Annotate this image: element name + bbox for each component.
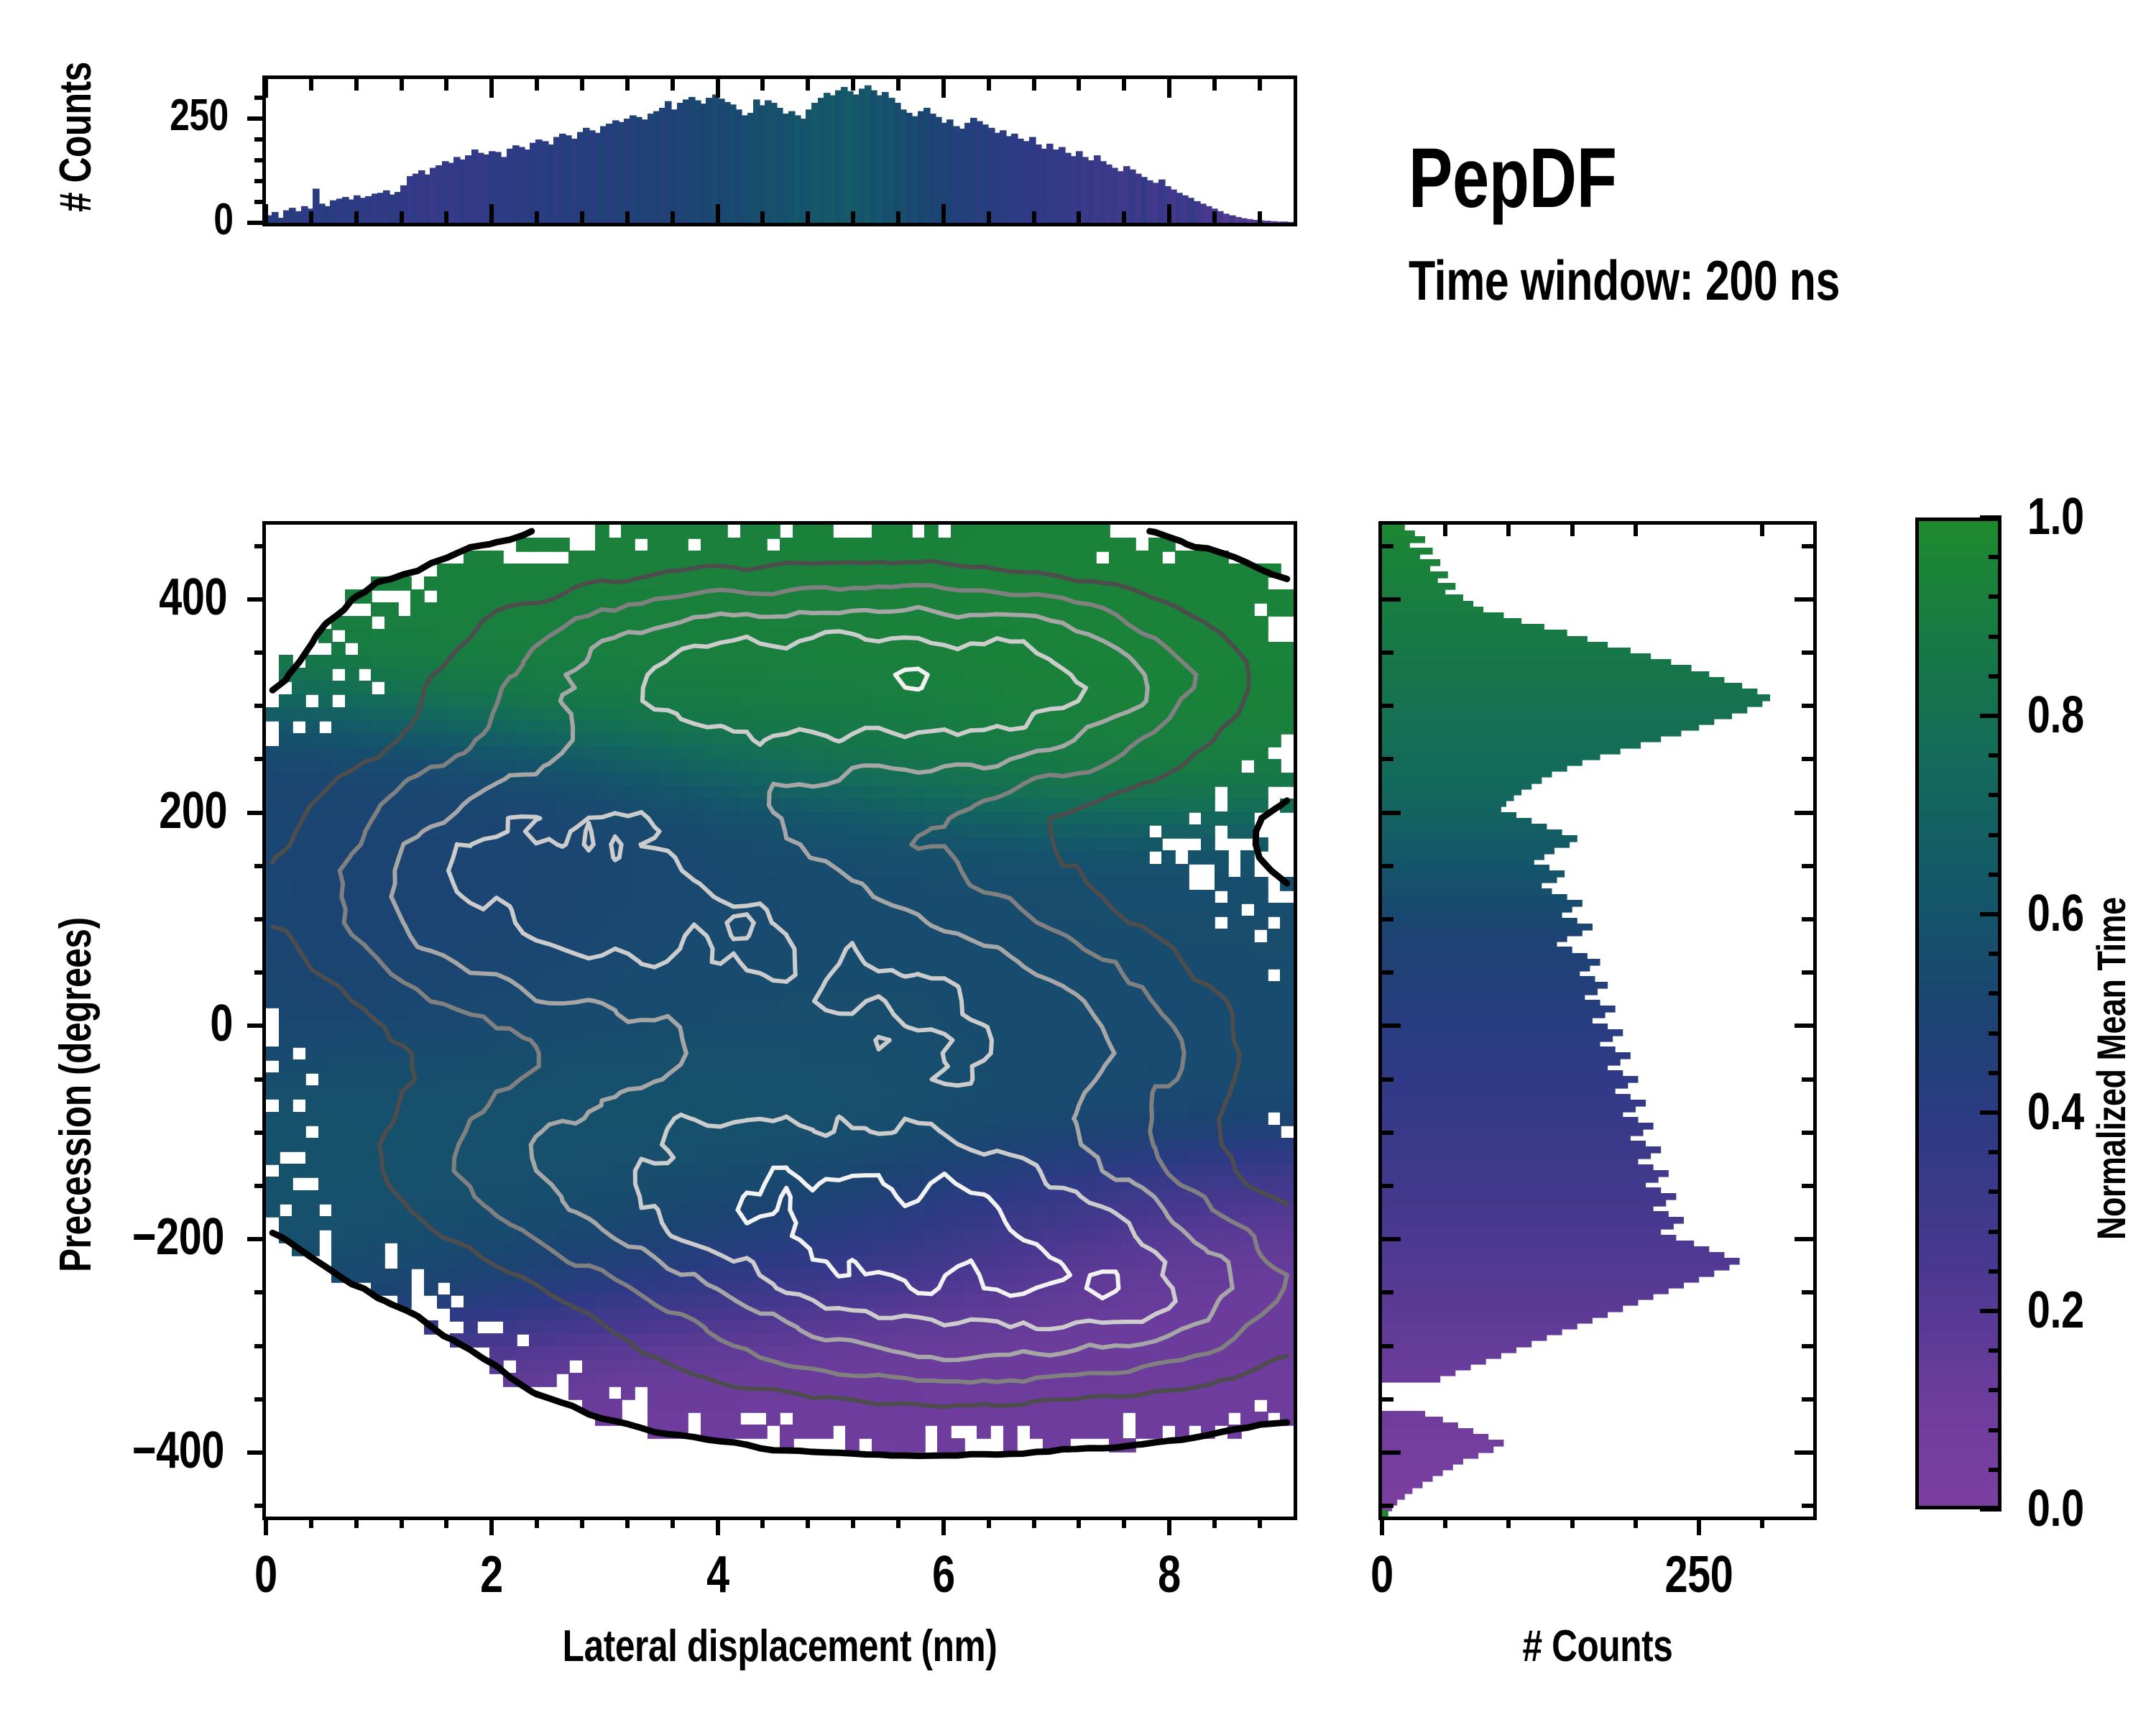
axis-tick <box>254 757 266 761</box>
axis-tick <box>309 1517 313 1528</box>
axis-tick <box>1802 864 1813 868</box>
axis-tick <box>1634 1517 1638 1528</box>
axis-tick <box>254 1397 266 1402</box>
axis-tick <box>1167 1517 1171 1535</box>
axis-tick <box>987 1517 991 1528</box>
axis-tick <box>760 211 765 223</box>
axis-tick <box>1989 1388 2001 1392</box>
axis-tick <box>1382 970 1393 975</box>
figure-root: 0250 # Counts 024684002000−200−400 Prece… <box>0 0 2156 1725</box>
axis-tick <box>1382 864 1393 868</box>
axis-tick <box>1382 1290 1393 1294</box>
axis-tick <box>1167 79 1171 98</box>
axis-tick <box>535 1517 539 1528</box>
axis-tick <box>941 79 946 98</box>
axis-tick <box>1989 594 2001 599</box>
axis-tick <box>851 79 855 91</box>
axis-tick <box>1443 1517 1447 1528</box>
axis-tick <box>851 1517 855 1528</box>
axis-tick <box>1795 811 1813 815</box>
axis-tick <box>1989 833 2001 837</box>
axis-tick <box>1032 1517 1036 1528</box>
axis-tick <box>254 1184 266 1188</box>
axis-tick <box>444 211 448 223</box>
axis-tick <box>254 1131 266 1135</box>
axis-tick <box>1122 79 1126 91</box>
axis-tick-label: 0.6 <box>2027 884 2084 943</box>
axis-tick-label: 0 <box>213 194 233 245</box>
main-heatmap-ylabel: Precession (degrees) <box>50 917 101 1272</box>
right-histogram-canvas <box>1382 525 1813 1517</box>
axis-tick <box>1980 515 2001 520</box>
axis-tick <box>254 864 266 868</box>
axis-tick <box>896 211 900 223</box>
axis-tick <box>535 211 539 223</box>
axis-tick <box>1989 1031 2001 1036</box>
axis-tick <box>264 204 268 223</box>
axis-tick <box>580 79 584 91</box>
axis-tick <box>987 79 991 91</box>
colorbar-label: Normalized Mean Time <box>2088 897 2134 1240</box>
axis-tick <box>254 650 266 655</box>
axis-tick-label: 8 <box>1158 1545 1181 1604</box>
axis-tick <box>1382 1077 1393 1082</box>
axis-tick <box>1506 525 1511 536</box>
axis-tick <box>806 1517 810 1528</box>
axis-tick <box>1802 1504 1813 1508</box>
axis-tick <box>400 79 404 91</box>
axis-tick <box>1760 525 1764 536</box>
axis-tick <box>1382 704 1393 708</box>
axis-tick <box>1212 79 1217 91</box>
axis-tick <box>1382 1344 1393 1348</box>
axis-tick <box>806 211 810 223</box>
axis-tick <box>1795 1023 1813 1028</box>
axis-tick <box>1380 1517 1384 1535</box>
axis-tick <box>1802 1397 1813 1402</box>
axis-tick <box>247 1023 266 1028</box>
axis-tick <box>760 1517 765 1528</box>
axis-tick-label: −400 <box>132 1421 224 1480</box>
colorbar <box>1915 517 2001 1509</box>
axis-tick <box>1032 79 1036 91</box>
axis-tick-label: 0 <box>1370 1545 1393 1604</box>
axis-tick <box>1989 1269 2001 1274</box>
axis-tick <box>535 79 539 91</box>
axis-tick <box>1122 211 1126 223</box>
axis-tick <box>1570 1517 1575 1528</box>
axis-tick <box>1382 1237 1401 1241</box>
axis-tick <box>1077 211 1081 223</box>
axis-tick <box>264 79 268 98</box>
axis-tick <box>1382 811 1401 815</box>
axis-tick <box>1802 757 1813 761</box>
axis-tick <box>625 1517 630 1528</box>
axis-tick <box>1570 525 1575 536</box>
axis-tick <box>247 811 266 815</box>
axis-tick-label: 250 <box>170 90 229 141</box>
axis-tick <box>760 79 765 91</box>
axis-tick <box>1989 1190 2001 1194</box>
axis-tick <box>247 1450 266 1455</box>
axis-tick <box>1989 873 2001 877</box>
axis-tick-label: 2 <box>480 1545 503 1604</box>
axis-tick <box>444 79 448 91</box>
axis-tick <box>1258 1517 1262 1528</box>
axis-tick <box>671 211 675 223</box>
axis-tick <box>1989 991 2001 995</box>
axis-tick <box>354 1517 359 1528</box>
axis-tick <box>254 917 266 921</box>
figure-subtitle: Time window: 200 ns <box>1409 248 1840 313</box>
axis-tick <box>1212 1517 1217 1528</box>
right-histogram-xlabel: # Counts <box>1523 1621 1673 1672</box>
axis-tick <box>1382 1504 1393 1508</box>
axis-tick <box>1989 1468 2001 1472</box>
axis-tick <box>896 1517 900 1528</box>
axis-tick-label: 200 <box>159 781 227 840</box>
axis-tick <box>716 1517 720 1535</box>
axis-tick <box>1506 1517 1511 1528</box>
axis-tick <box>1989 1150 2001 1154</box>
axis-tick <box>716 79 720 98</box>
axis-tick-label: 400 <box>159 568 227 627</box>
axis-tick-label: −200 <box>132 1207 224 1266</box>
axis-tick <box>1989 952 2001 956</box>
axis-tick <box>1989 635 2001 639</box>
main-heatmap-canvas <box>266 525 1294 1517</box>
axis-tick <box>625 211 630 223</box>
axis-tick-label: 0 <box>210 994 233 1053</box>
axis-tick <box>1802 650 1813 655</box>
axis-tick <box>625 79 630 91</box>
axis-tick <box>1802 1077 1813 1082</box>
axis-tick <box>1258 211 1262 223</box>
axis-tick <box>354 211 359 223</box>
axis-tick <box>247 116 266 121</box>
axis-tick <box>580 211 584 223</box>
axis-tick <box>1989 555 2001 559</box>
axis-tick <box>896 79 900 91</box>
axis-tick <box>254 1344 266 1348</box>
axis-tick <box>1989 1348 2001 1353</box>
axis-tick <box>941 204 946 223</box>
axis-tick <box>1382 1397 1393 1402</box>
axis-tick <box>1802 1344 1813 1348</box>
axis-tick <box>354 79 359 91</box>
axis-tick-label: 4 <box>706 1545 729 1604</box>
axis-tick <box>1802 1184 1813 1188</box>
axis-tick-label: 1.0 <box>2027 487 2084 546</box>
axis-tick <box>1382 1184 1393 1188</box>
axis-tick <box>247 1237 266 1241</box>
axis-tick <box>1382 757 1393 761</box>
axis-tick <box>1980 1507 2001 1512</box>
axis-tick <box>1980 1110 2001 1115</box>
top-histogram-canvas <box>266 79 1294 223</box>
axis-tick <box>1795 1237 1813 1241</box>
axis-tick <box>1258 79 1262 91</box>
axis-tick <box>254 970 266 975</box>
axis-tick <box>1802 917 1813 921</box>
axis-tick <box>671 79 675 91</box>
axis-tick <box>1382 544 1393 548</box>
axis-tick <box>1212 211 1217 223</box>
axis-tick <box>1795 597 1813 602</box>
axis-tick <box>1122 1517 1126 1528</box>
axis-tick <box>309 211 313 223</box>
axis-tick <box>489 79 494 98</box>
axis-tick <box>987 211 991 223</box>
axis-tick <box>1760 1517 1764 1528</box>
axis-tick-label: 0 <box>254 1545 277 1604</box>
axis-tick <box>1382 1023 1401 1028</box>
axis-tick <box>1980 714 2001 718</box>
figure-title: PepDF <box>1409 129 1617 227</box>
axis-tick <box>489 1517 494 1535</box>
axis-tick <box>1382 597 1401 602</box>
axis-tick <box>1989 753 2001 758</box>
axis-tick <box>400 211 404 223</box>
axis-tick <box>1980 1309 2001 1313</box>
axis-tick <box>1077 1517 1081 1528</box>
axis-tick <box>1989 793 2001 797</box>
main-heatmap-xlabel: Lateral displacement (nm) <box>563 1621 998 1672</box>
axis-tick <box>1167 204 1171 223</box>
axis-tick <box>1989 674 2001 678</box>
axis-tick <box>254 179 266 183</box>
axis-tick-label: 250 <box>1665 1545 1733 1604</box>
axis-tick-label: 0.8 <box>2027 686 2084 745</box>
axis-tick <box>1382 650 1393 655</box>
axis-tick <box>1697 1517 1701 1535</box>
axis-tick <box>806 79 810 91</box>
axis-tick <box>1032 211 1036 223</box>
axis-tick <box>1443 525 1447 536</box>
axis-tick <box>1802 970 1813 975</box>
axis-tick <box>254 704 266 708</box>
axis-tick <box>1634 525 1638 536</box>
axis-tick <box>1382 1450 1401 1455</box>
axis-tick-label: 0.4 <box>2027 1082 2084 1141</box>
axis-tick <box>254 137 266 142</box>
axis-tick <box>254 1290 266 1294</box>
axis-tick <box>1077 79 1081 91</box>
axis-tick <box>247 597 266 602</box>
axis-tick-label: 6 <box>932 1545 955 1604</box>
axis-tick <box>309 79 313 91</box>
axis-tick <box>1980 912 2001 916</box>
axis-tick <box>254 1504 266 1508</box>
axis-tick <box>264 1517 268 1535</box>
axis-tick <box>1802 704 1813 708</box>
axis-tick <box>254 544 266 548</box>
axis-tick-label: 0.0 <box>2027 1479 2084 1538</box>
axis-tick <box>1802 1131 1813 1135</box>
axis-tick <box>1989 1428 2001 1432</box>
axis-tick <box>1802 1290 1813 1294</box>
axis-tick <box>254 158 266 162</box>
axis-tick <box>254 1077 266 1082</box>
axis-tick-label: 0.2 <box>2027 1281 2084 1340</box>
axis-tick <box>1382 917 1393 921</box>
axis-tick <box>716 204 720 223</box>
axis-tick <box>1989 1230 2001 1234</box>
axis-tick <box>1382 1131 1393 1135</box>
axis-tick <box>1795 1450 1813 1455</box>
axis-tick <box>1989 1071 2001 1075</box>
axis-tick <box>489 204 494 223</box>
axis-tick <box>580 1517 584 1528</box>
axis-tick <box>400 1517 404 1528</box>
axis-tick <box>671 1517 675 1528</box>
axis-tick <box>941 1517 946 1535</box>
axis-tick <box>444 1517 448 1528</box>
axis-tick <box>851 211 855 223</box>
axis-tick <box>1802 544 1813 548</box>
top-histogram-ylabel: # Counts <box>50 62 101 212</box>
